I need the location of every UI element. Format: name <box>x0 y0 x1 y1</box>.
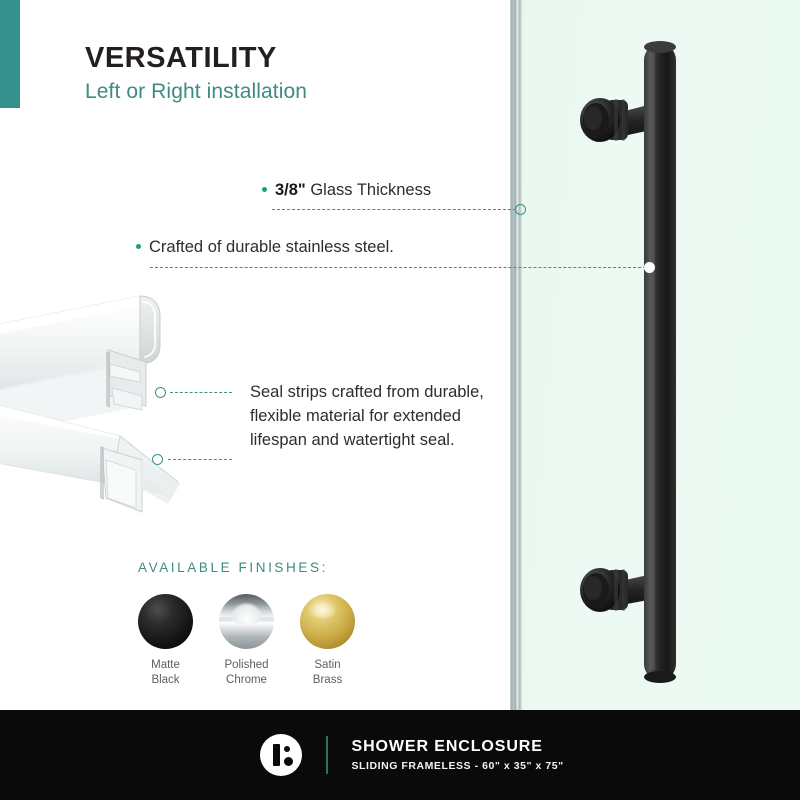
logo-dot-large-shape <box>284 757 293 766</box>
available-finishes-title: AVAILABLE FINISHES: <box>138 560 355 575</box>
finish-ball-polished-chrome <box>219 594 274 649</box>
brand-logo-icon <box>260 734 302 776</box>
seal-strips-svg <box>0 288 205 523</box>
finish-swatch-satin-brass[interactable]: Satin Brass <box>300 594 355 687</box>
callout-stainless-steel-label: Crafted of durable stainless steel. <box>149 238 394 256</box>
callout-seal-strips: Seal strips crafted from durable, flexib… <box>250 381 490 453</box>
leader-line-stainless-steel <box>150 267 646 268</box>
finish-label-line1: Polished <box>219 658 274 673</box>
footer-title: SHOWER ENCLOSURE <box>352 738 564 756</box>
finish-swatch-polished-chrome[interactable]: Polished Chrome <box>219 594 274 687</box>
anchor-glass-thickness <box>515 204 526 215</box>
leader-line-glass-thickness <box>272 209 516 210</box>
finish-ball-matte-black <box>138 594 193 649</box>
callout-glass-thickness-label: Glass Thickness <box>306 181 431 199</box>
finish-label-line2: Brass <box>300 673 355 688</box>
anchor-stainless-steel <box>644 262 655 273</box>
footer-text-block: SHOWER ENCLOSURE SLIDING FRAMELESS - 60"… <box>352 738 564 772</box>
finish-label-line2: Chrome <box>219 673 274 688</box>
seal-strips-illustration <box>0 288 205 523</box>
accent-bar <box>0 0 20 108</box>
finish-swatch-row: Matte Black Polished Chrome Satin Brass <box>138 594 355 687</box>
footer-subtitle: SLIDING FRAMELESS - 60" x 35" x 75" <box>352 760 564 772</box>
callout-seal-strips-label: Seal strips crafted from durable, flexib… <box>250 381 490 453</box>
leader-line-seal-bottom <box>168 459 232 460</box>
bullet-icon <box>136 244 141 249</box>
page-subtitle: Left or Right installation <box>85 80 307 104</box>
finish-label-line2: Black <box>138 673 193 688</box>
anchor-seal-top <box>155 387 166 398</box>
leader-line-seal-top <box>170 392 232 393</box>
footer-divider <box>326 736 328 774</box>
callout-glass-thickness: 3/8" Glass Thickness <box>262 180 431 201</box>
product-infographic: VERSATILITY Left or Right installation <box>0 0 800 800</box>
callout-stainless-steel: Crafted of durable stainless steel. <box>136 237 394 258</box>
available-finishes-section: AVAILABLE FINISHES: Matte Black Polished… <box>138 560 355 687</box>
finish-swatch-matte-black[interactable]: Matte Black <box>138 594 193 687</box>
finish-label-line1: Matte <box>138 658 193 673</box>
callout-glass-thickness-strong: 3/8" <box>275 181 306 199</box>
finish-label-line1: Satin <box>300 658 355 673</box>
glass-panel-edge-highlight <box>516 0 518 710</box>
heading-block: VERSATILITY Left or Right installation <box>85 42 307 104</box>
page-title: VERSATILITY <box>85 42 307 75</box>
bullet-icon <box>262 187 267 192</box>
logo-bar-shape <box>273 744 280 766</box>
glass-panel <box>510 0 800 710</box>
logo-dot-small-shape <box>284 746 290 752</box>
finish-ball-satin-brass <box>300 594 355 649</box>
footer-bar: SHOWER ENCLOSURE SLIDING FRAMELESS - 60"… <box>0 710 800 800</box>
anchor-seal-bottom <box>152 454 163 465</box>
